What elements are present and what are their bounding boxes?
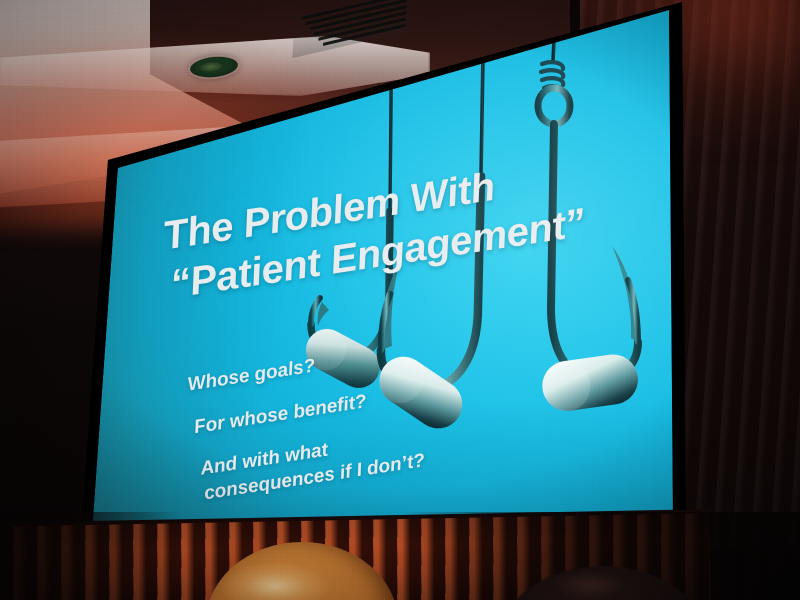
audience-head-right-highlight (556, 572, 626, 598)
photo-scene: The Problem With “Patient Engagement” Wh… (0, 0, 800, 600)
stage-shadow-left (0, 512, 180, 600)
slide-bullets: Whose goals? For whose benefit? And with… (186, 324, 532, 507)
slide-title: The Problem With “Patient Engagement” (160, 135, 689, 309)
